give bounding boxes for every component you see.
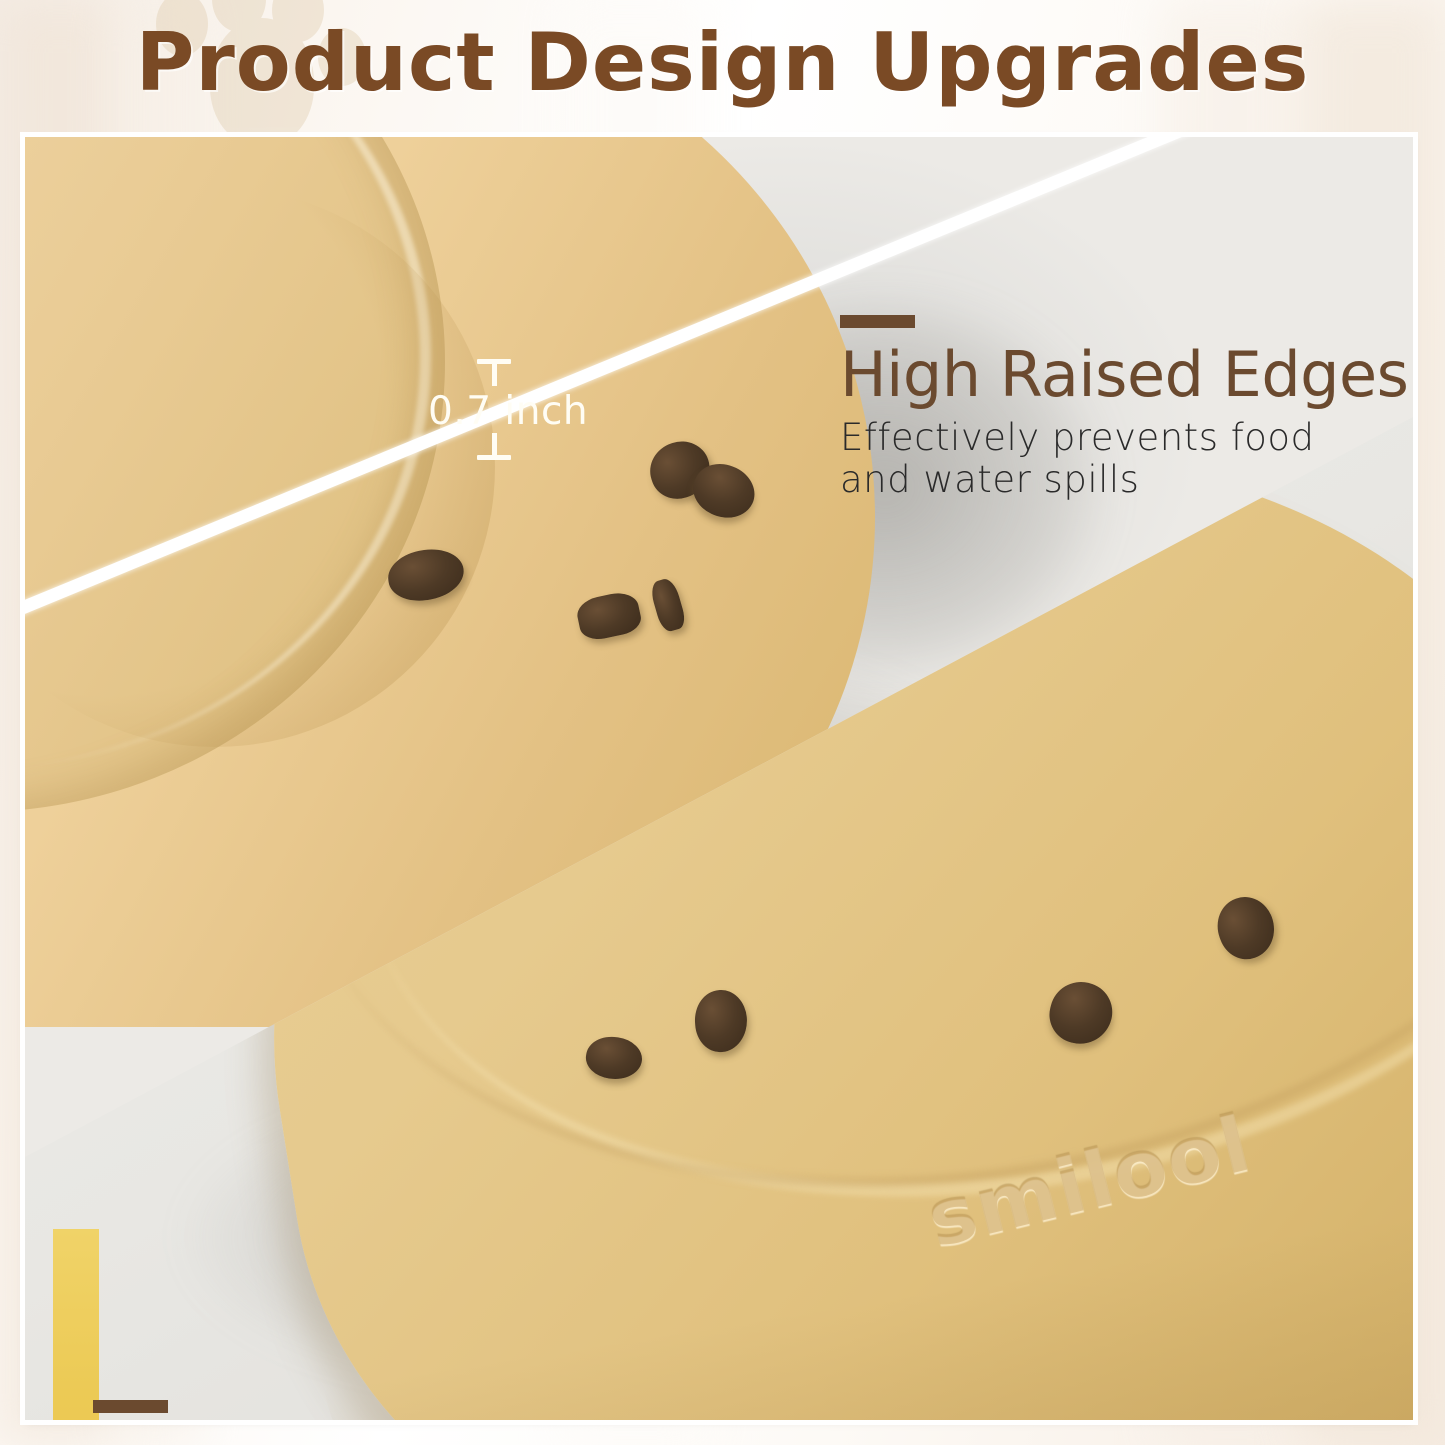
callout-subtext: Effectively prevents food and water spil… (840, 417, 1408, 501)
callout-dash-icon (93, 1400, 168, 1413)
infographic-canvas: Product Design Upgrades (0, 0, 1445, 1445)
header-banner: Product Design Upgrades (0, 0, 1445, 137)
product-photo-panel: smilool 0.7 inch High Raised Edges Effec… (25, 137, 1413, 1420)
dimension-annotation: 0.7 inch (429, 359, 629, 469)
callout-subtext-line: and water spills (840, 459, 1408, 501)
callout-high-raised-edges: High Raised Edges Effectively prevents f… (840, 315, 1408, 501)
callout-heading: High Raised Edges (840, 342, 1408, 408)
page-title: Product Design Upgrades (0, 16, 1445, 109)
callout-subtext-line: Effectively prevents food (840, 417, 1408, 459)
callout-keeping-floor-clean: Keeping the floor clean Minimizes time s… (93, 1400, 1062, 1420)
callout-dash-icon (840, 315, 915, 328)
dimension-label: 0.7 inch (428, 389, 588, 434)
mat-edge-shading (324, 1180, 1413, 1420)
yellow-accent-bar (53, 1229, 99, 1420)
